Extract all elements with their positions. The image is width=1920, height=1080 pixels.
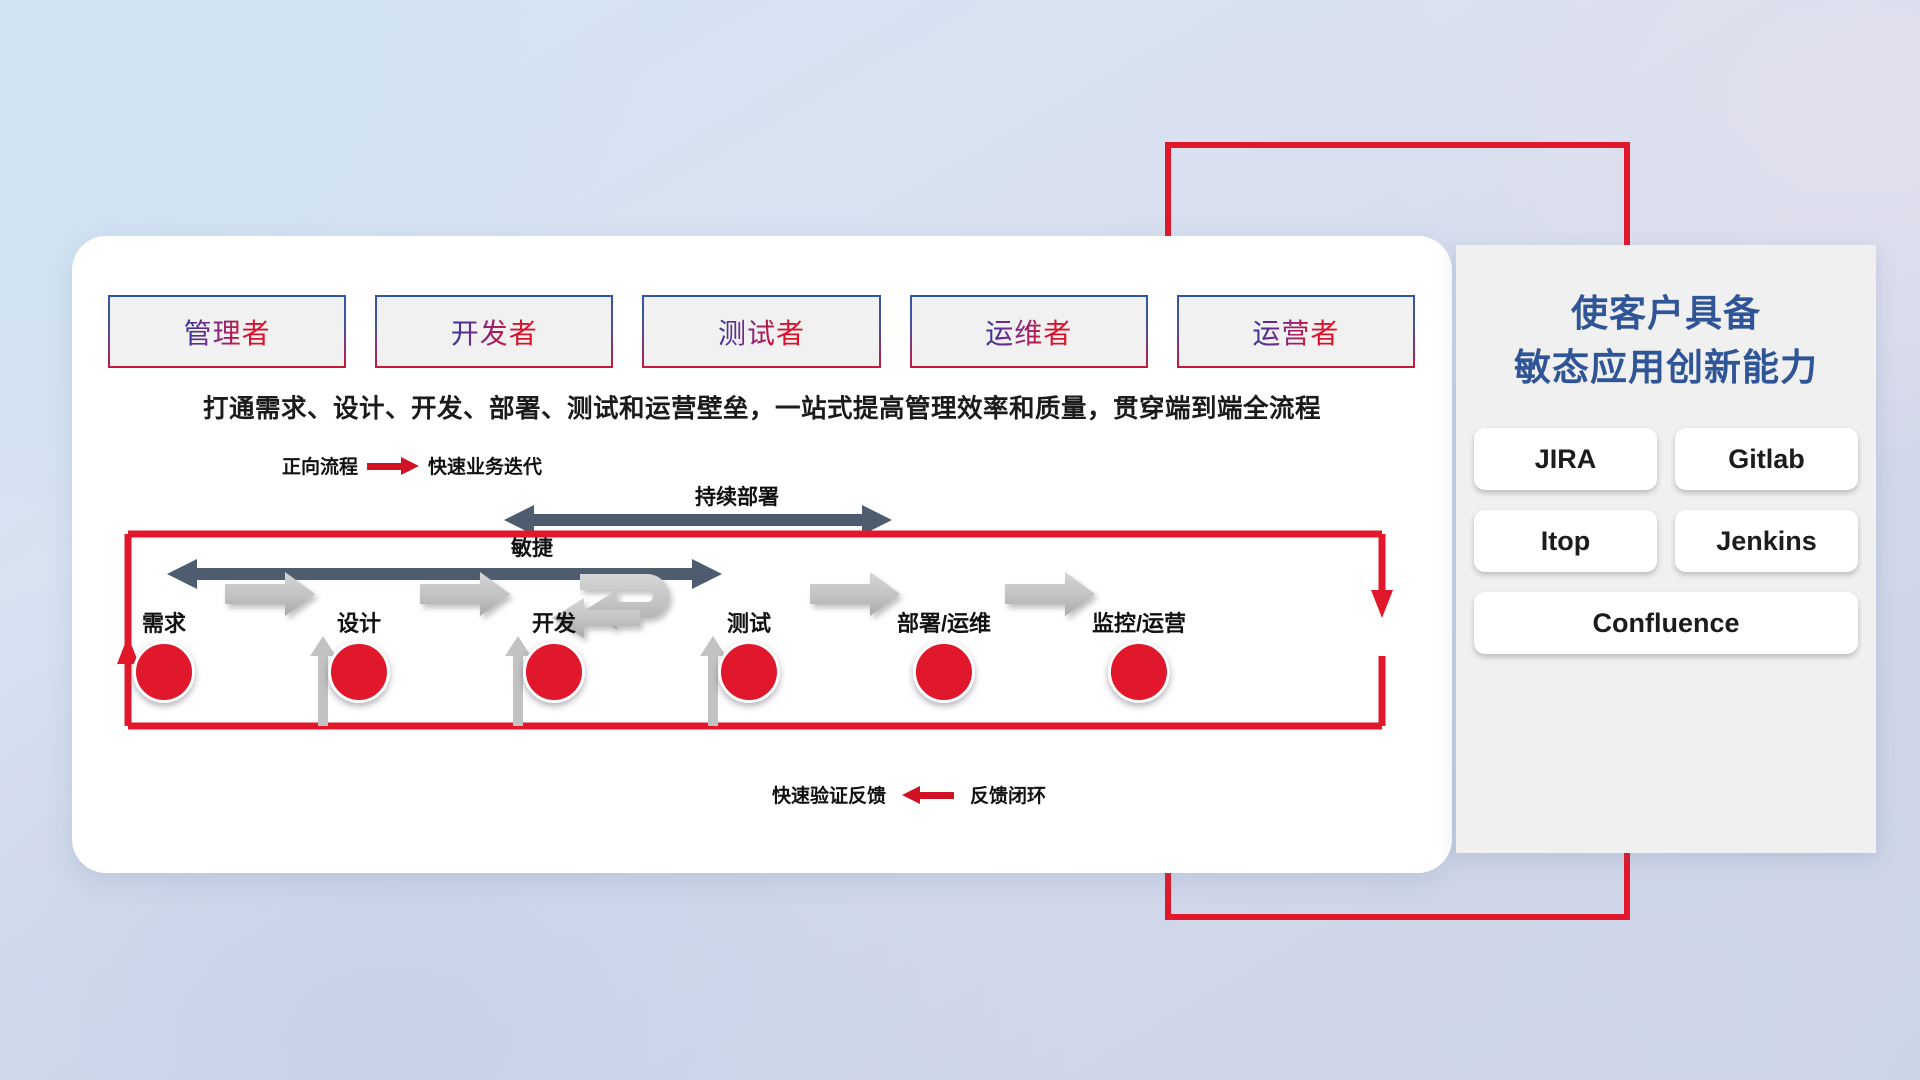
slide-canvas: 管理者 开发者 测试者 运维者 运营者 打通需求、设计、开发、部署、测试和运营壁… (0, 0, 1920, 1080)
stage-label: 测试 (718, 606, 780, 638)
stage-dot (1108, 641, 1170, 703)
tool-chip-gitlab[interactable]: Gitlab (1675, 428, 1858, 490)
panel-title-line-2: 敏态应用创新能力 (1456, 341, 1876, 395)
stage-label: 开发 (523, 606, 585, 638)
role-label: 开发者 (451, 312, 538, 352)
tool-chip-confluence[interactable]: Confluence (1474, 592, 1858, 654)
stage-dot (523, 641, 585, 703)
role-label: 运维者 (985, 312, 1072, 352)
stage-dot (133, 641, 195, 703)
stage-node-2[interactable]: 开发 (523, 606, 585, 703)
panel-title-line-1: 使客户具备 (1456, 287, 1876, 341)
stage-node-5[interactable]: 监控/运营 (1092, 606, 1186, 703)
stage-label: 部署/运维 (897, 606, 991, 638)
stage-node-0[interactable]: 需求 (133, 606, 195, 703)
tool-chip-jenkins[interactable]: Jenkins (1675, 510, 1858, 572)
tool-chip-itop[interactable]: Itop (1474, 510, 1657, 572)
panel-title: 使客户具备 敏态应用创新能力 (1456, 287, 1876, 394)
role-label: 管理者 (184, 312, 271, 352)
stage-node-4[interactable]: 部署/运维 (897, 606, 991, 703)
stage-label: 需求 (133, 606, 195, 638)
capability-panel: 使客户具备 敏态应用创新能力 JIRA Gitlab Itop Jenkins … (1456, 245, 1876, 853)
devops-flow-card: 管理者 开发者 测试者 运维者 运营者 打通需求、设计、开发、部署、测试和运营壁… (72, 236, 1452, 873)
role-label: 测试者 (718, 312, 805, 352)
tool-chip-list: JIRA Gitlab Itop Jenkins Confluence (1456, 428, 1876, 654)
stage-label: 监控/运营 (1092, 606, 1186, 638)
stage-dot (328, 641, 390, 703)
role-label: 运营者 (1252, 312, 1339, 352)
stage-label: 设计 (328, 606, 390, 638)
stage-node-1[interactable]: 设计 (328, 606, 390, 703)
stage-node-3[interactable]: 测试 (718, 606, 780, 703)
tool-chip-jira[interactable]: JIRA (1474, 428, 1657, 490)
stage-dot (913, 641, 975, 703)
stage-dot (718, 641, 780, 703)
